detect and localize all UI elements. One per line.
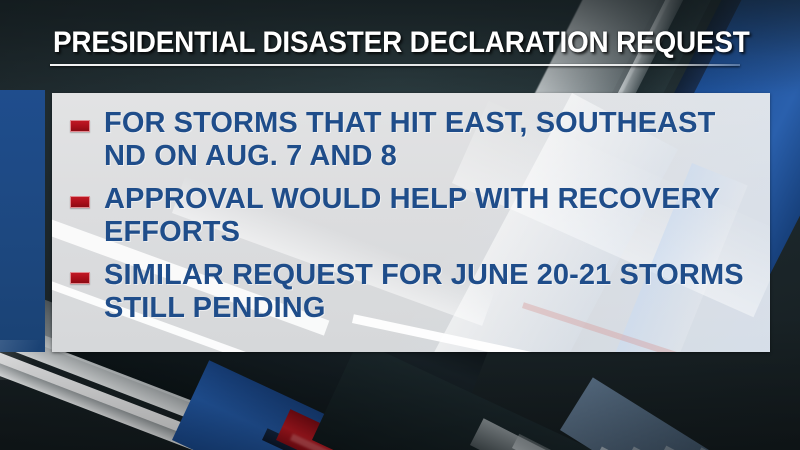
bullet-list: FOR STORMS THAT HIT EAST, SOUTHEAST ND O… [52, 93, 770, 335]
left-accent-bar-sheen [0, 340, 45, 380]
title-underline [50, 64, 740, 66]
page-title: PRESIDENTIAL DISASTER DECLARATION REQUES… [53, 28, 750, 58]
content-panel: FOR STORMS THAT HIT EAST, SOUTHEAST ND O… [52, 93, 770, 352]
square-bullet-icon [70, 196, 90, 208]
list-item: SIMILAR REQUEST FOR JUNE 20-21 STORMS ST… [52, 259, 770, 325]
left-accent-bar [0, 90, 45, 352]
square-bullet-icon [70, 120, 90, 132]
list-item: APPROVAL WOULD HELP WITH RECOVERY EFFORT… [52, 183, 770, 249]
square-bullet-icon [70, 272, 90, 284]
broadcast-graphic-screen: PRESIDENTIAL DISASTER DECLARATION REQUES… [0, 0, 800, 450]
bullet-text: FOR STORMS THAT HIT EAST, SOUTHEAST ND O… [104, 107, 752, 173]
bullet-text: SIMILAR REQUEST FOR JUNE 20-21 STORMS ST… [104, 259, 752, 325]
bullet-text: APPROVAL WOULD HELP WITH RECOVERY EFFORT… [104, 183, 752, 249]
list-item: FOR STORMS THAT HIT EAST, SOUTHEAST ND O… [52, 107, 770, 173]
